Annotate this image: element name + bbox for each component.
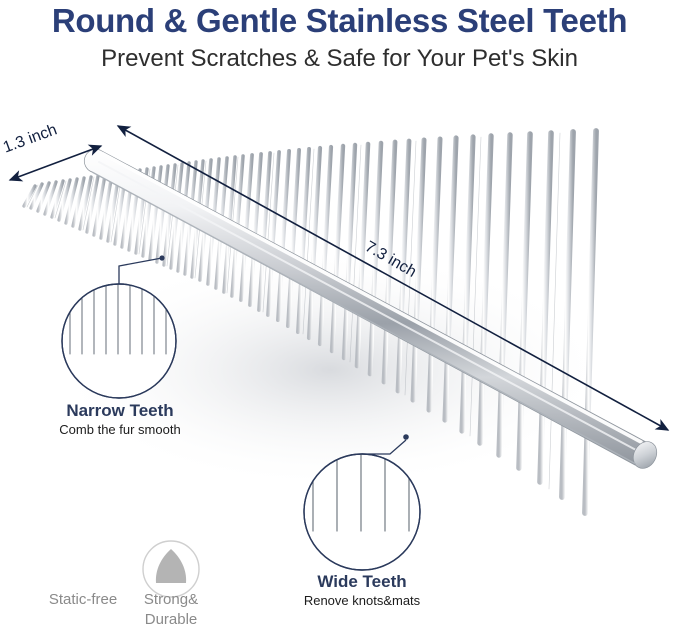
product-illustration	[0, 0, 679, 631]
feature-label-strong-durable: Strong& Durable	[130, 590, 212, 630]
page-title: Round & Gentle Stainless Steel Teeth	[0, 2, 679, 40]
wide-teeth-label: Wide Teeth	[262, 572, 462, 592]
wide-teeth-sublabel: Renove knots&mats	[262, 593, 462, 608]
infographic-canvas: Round & Gentle Stainless Steel Teeth Pre…	[0, 0, 679, 631]
narrow-teeth-sublabel: Comb the fur smooth	[0, 422, 240, 437]
strong-durable-icon	[143, 541, 199, 597]
feature-label-line1: Strong&	[144, 591, 198, 608]
page-subtitle: Prevent Scratches & Safe for Your Pet's …	[0, 45, 679, 73]
narrow-teeth-label: Narrow Teeth	[0, 401, 240, 421]
feature-label-static-free: Static-free	[20, 590, 146, 610]
feature-label-line2: Durable	[145, 611, 198, 628]
